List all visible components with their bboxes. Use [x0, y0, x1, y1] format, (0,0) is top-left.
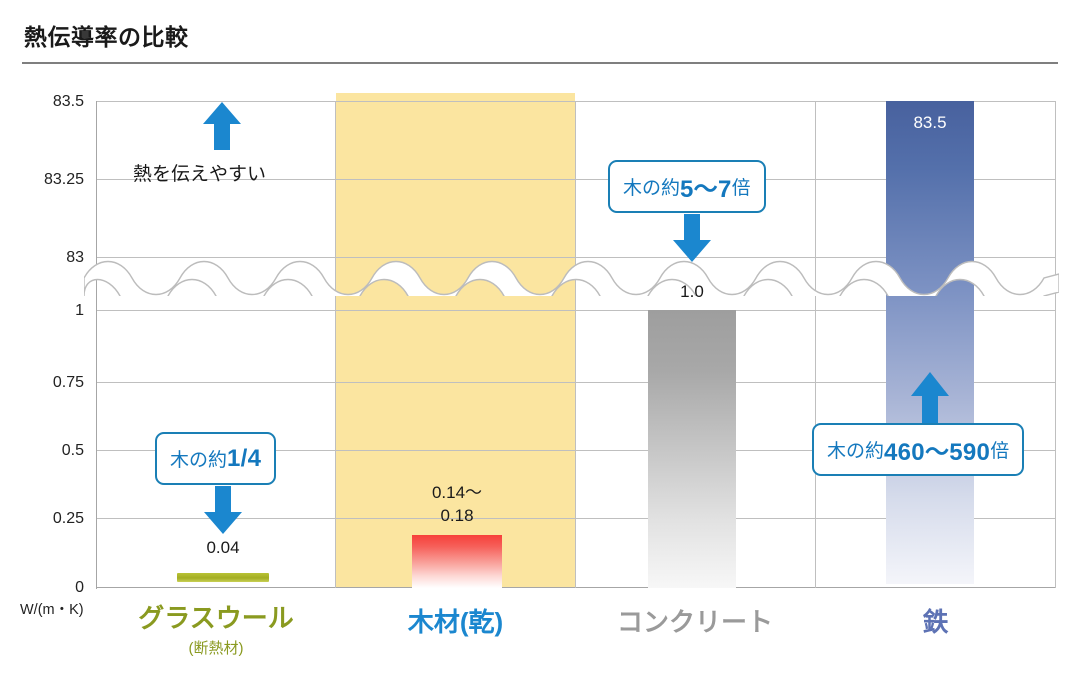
callout-iron-emphasis: 460〜590 — [884, 432, 990, 467]
callout-glasswool[interactable]: 木の約1/4 — [155, 432, 276, 485]
category-label-wood-main: 木材(乾) — [336, 602, 575, 639]
value-label-glasswool: 0.04 — [177, 538, 269, 558]
value-label-wood-line1: 0.14〜 — [402, 478, 512, 503]
category-label-iron: 鉄 — [815, 602, 1056, 639]
category-label-glasswool-main: グラスウール — [96, 598, 336, 635]
down-arrow-concrete — [670, 212, 714, 269]
callout-glasswool-prefix: 木の約 — [170, 445, 227, 472]
callout-concrete-emphasis: 5〜7 — [680, 169, 732, 204]
callout-iron[interactable]: 木の約460〜590倍 — [812, 423, 1024, 476]
y-axis-unit-label: W/(m・K) — [20, 598, 84, 619]
up-arrow-heat-conduct — [200, 100, 244, 157]
ytick-0-75: 0.75 — [6, 374, 84, 392]
category-label-glasswool: グラスウール (断熱材) — [96, 598, 336, 658]
ytick-0: 0 — [6, 579, 84, 597]
axis-break-wave — [84, 248, 1059, 296]
chart-root: 熱伝導率の比較 83.5 83.25 83 1 0.75 0.5 0.25 0 … — [0, 0, 1080, 700]
category-label-wood: 木材(乾) — [336, 602, 575, 639]
ytick-0-25: 0.25 — [6, 510, 84, 528]
ytick-83-5: 83.5 — [6, 93, 84, 111]
bar-wood — [412, 535, 502, 588]
ytick-0-5: 0.5 — [6, 442, 84, 460]
callout-concrete-suffix: 倍 — [732, 173, 751, 200]
bar-glasswool — [177, 573, 269, 582]
value-label-iron: 83.5 — [886, 113, 974, 133]
callout-iron-suffix: 倍 — [990, 436, 1009, 463]
down-arrow-glasswool — [201, 484, 245, 541]
bar-iron — [886, 101, 974, 584]
gridline-0 — [96, 587, 1056, 588]
y-axis-line — [96, 101, 97, 589]
annotation-heat-conduct-text: 熱を伝えやすい — [133, 159, 266, 186]
category-label-concrete: コンクリート — [575, 602, 815, 639]
callout-concrete-prefix: 木の約 — [623, 173, 680, 200]
ytick-83-25: 83.25 — [6, 171, 84, 189]
ytick-1: 1 — [6, 302, 84, 320]
callout-glasswool-emphasis: 1/4 — [227, 445, 261, 473]
value-label-concrete: 1.0 — [648, 282, 736, 302]
category-label-concrete-main: コンクリート — [575, 602, 815, 639]
page-title: 熱伝導率の比較 — [24, 18, 189, 52]
category-label-glasswool-sub: (断熱材) — [96, 637, 336, 658]
vgridline-3 — [815, 101, 816, 588]
value-label-wood-line2: 0.18 — [402, 506, 512, 526]
vgridline-2 — [575, 101, 576, 588]
title-divider — [22, 62, 1058, 64]
vgridline-1 — [335, 101, 336, 588]
bar-concrete — [648, 310, 736, 588]
callout-concrete[interactable]: 木の約5〜7倍 — [608, 160, 766, 213]
vgridline-4 — [1055, 101, 1056, 588]
category-label-iron-main: 鉄 — [815, 602, 1056, 639]
callout-iron-prefix: 木の約 — [827, 436, 884, 463]
ytick-83: 83 — [6, 249, 84, 267]
